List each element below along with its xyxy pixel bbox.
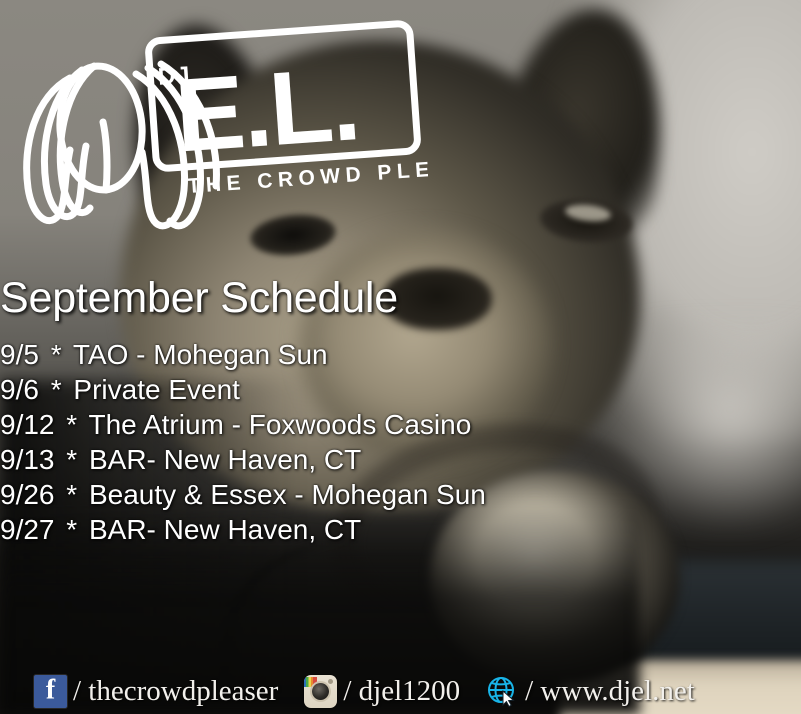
schedule-event: BAR- New Haven, CT	[89, 514, 361, 545]
dj-el-logo: DJ E.L. THE CROWD PLEASER	[8, 18, 428, 233]
schedule-date: 9/27	[0, 512, 55, 547]
schedule-event: The Atrium - Foxwoods Casino	[88, 409, 471, 440]
website-handle: / www.djel.net	[525, 675, 695, 708]
flyer-canvas: DJ E.L. THE CROWD PLEASER September Sche…	[0, 0, 801, 714]
schedule-separator: *	[47, 337, 66, 372]
social-footer: / thecrowdpleaser / djel1200	[0, 668, 801, 714]
instagram-icon[interactable]	[304, 675, 337, 708]
facebook-handle: / thecrowdpleaser	[73, 675, 278, 708]
schedule-separator: *	[62, 442, 81, 477]
schedule-date: 9/5	[0, 337, 39, 372]
list-item: 9/26 * Beauty & Essex - Mohegan Sun	[0, 477, 620, 512]
list-item: 9/6 * Private Event	[0, 372, 620, 407]
schedule-event: TAO - Mohegan Sun	[73, 339, 328, 370]
social-link-facebook[interactable]: / thecrowdpleaser	[34, 675, 278, 708]
schedule-separator: *	[62, 512, 81, 547]
dog-nose	[382, 268, 492, 330]
social-link-website[interactable]: / www.djel.net	[486, 675, 695, 708]
schedule-list: 9/5 * TAO - Mohegan Sun 9/6 * Private Ev…	[0, 337, 620, 547]
schedule-separator: *	[47, 372, 66, 407]
schedule-date: 9/26	[0, 477, 55, 512]
schedule-event: Private Event	[73, 374, 240, 405]
schedule-event: BAR- New Haven, CT	[89, 444, 361, 475]
schedule-date: 9/6	[0, 372, 39, 407]
instagram-lens	[312, 683, 329, 700]
list-item: 9/27 * BAR- New Haven, CT	[0, 512, 620, 547]
schedule-separator: *	[62, 407, 81, 442]
schedule-date: 9/13	[0, 442, 55, 477]
logo-initials-text: E.L.	[172, 46, 362, 174]
schedule-event: Beauty & Essex - Mohegan Sun	[89, 479, 486, 510]
list-item: 9/5 * TAO - Mohegan Sun	[0, 337, 620, 372]
social-link-instagram[interactable]: / djel1200	[304, 675, 460, 708]
list-item: 9/13 * BAR- New Haven, CT	[0, 442, 620, 477]
instagram-handle: / djel1200	[343, 675, 460, 708]
schedule-date: 9/12	[0, 407, 55, 442]
schedule-separator: *	[62, 477, 81, 512]
list-item: 9/12 * The Atrium - Foxwoods Casino	[0, 407, 620, 442]
page-title: September Schedule	[0, 274, 398, 323]
globe-cursor-icon[interactable]	[486, 675, 519, 708]
facebook-icon[interactable]	[34, 675, 67, 708]
instagram-flash	[328, 679, 333, 684]
